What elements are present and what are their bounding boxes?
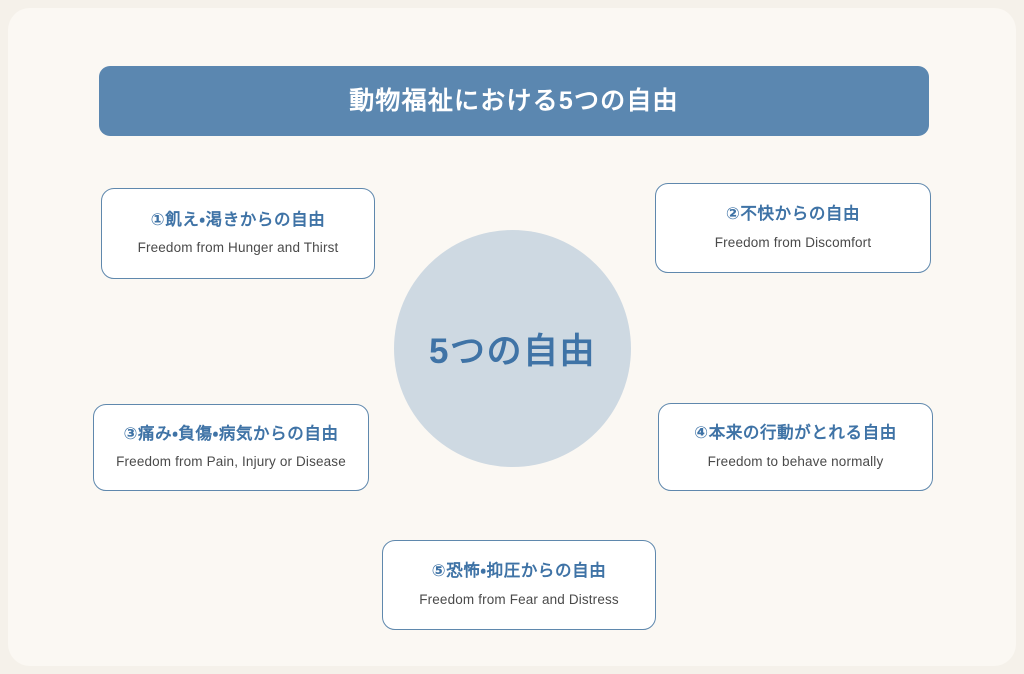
freedom-box-2-title-en: Freedom from Discomfort [715,235,871,252]
freedom-box-2: ②不快からの自由 Freedom from Discomfort [655,183,931,273]
freedom-box-3-title-en: Freedom from Pain, Injury or Disease [116,454,346,471]
freedom-box-3-title-ja: ③痛み・負傷・病気からの自由 [123,424,338,445]
five-freedoms-diagram: 動物福祉における5つの自由 5つの自由 ①飢え・渇きからの自由 Freedom … [0,0,1024,674]
center-circle-node: 5つの自由 [394,230,631,467]
freedom-box-5: ⑤恐怖・抑圧からの自由 Freedom from Fear and Distre… [382,540,656,630]
freedom-box-4-title-ja: ④本来の行動がとれる自由 [694,423,897,444]
freedom-box-5-title-ja: ⑤恐怖・抑圧からの自由 [432,561,607,582]
freedom-box-4-title-en: Freedom to behave normally [708,454,884,471]
page-title: 動物福祉における5つの自由 [349,86,679,116]
diagram-header-banner: 動物福祉における5つの自由 [99,66,929,136]
freedom-box-4: ④本来の行動がとれる自由 Freedom to behave normally [658,403,933,491]
center-circle-label: 5つの自由 [429,323,596,374]
freedom-box-2-title-ja: ②不快からの自由 [726,204,860,225]
freedom-box-5-title-en: Freedom from Fear and Distress [419,592,619,609]
freedom-box-1: ①飢え・渇きからの自由 Freedom from Hunger and Thir… [101,188,375,279]
freedom-box-1-title-en: Freedom from Hunger and Thirst [138,240,339,257]
freedom-box-3: ③痛み・負傷・病気からの自由 Freedom from Pain, Injury… [93,404,369,491]
freedom-box-1-title-ja: ①飢え・渇きからの自由 [151,210,326,231]
